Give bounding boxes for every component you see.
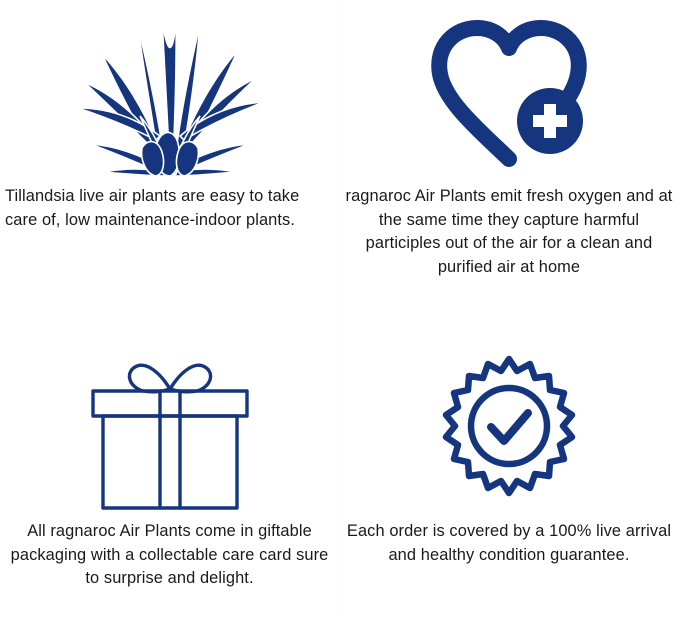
feature-text: Tillandsia live air plants are easy to t…	[0, 185, 339, 232]
feature-text: All ragnaroc Air Plants come in giftable…	[0, 520, 339, 591]
feature-cell-oxygen: ragnaroc Air Plants emit fresh oxygen an…	[339, 0, 679, 320]
heart-plus-icon	[339, 0, 679, 185]
feature-text: Each order is covered by a 100% live arr…	[339, 520, 679, 567]
feature-cell-gift: All ragnaroc Air Plants come in giftable…	[0, 320, 339, 617]
verified-badge-icon	[339, 320, 679, 520]
feature-text: ragnaroc Air Plants emit fresh oxygen an…	[339, 185, 679, 279]
feature-cell-care: Tillandsia live air plants are easy to t…	[0, 0, 339, 320]
gift-box-icon	[0, 320, 339, 520]
feature-grid: Tillandsia live air plants are easy to t…	[0, 0, 679, 617]
air-plant-icon	[0, 0, 339, 185]
feature-cell-guarantee: Each order is covered by a 100% live arr…	[339, 320, 679, 617]
